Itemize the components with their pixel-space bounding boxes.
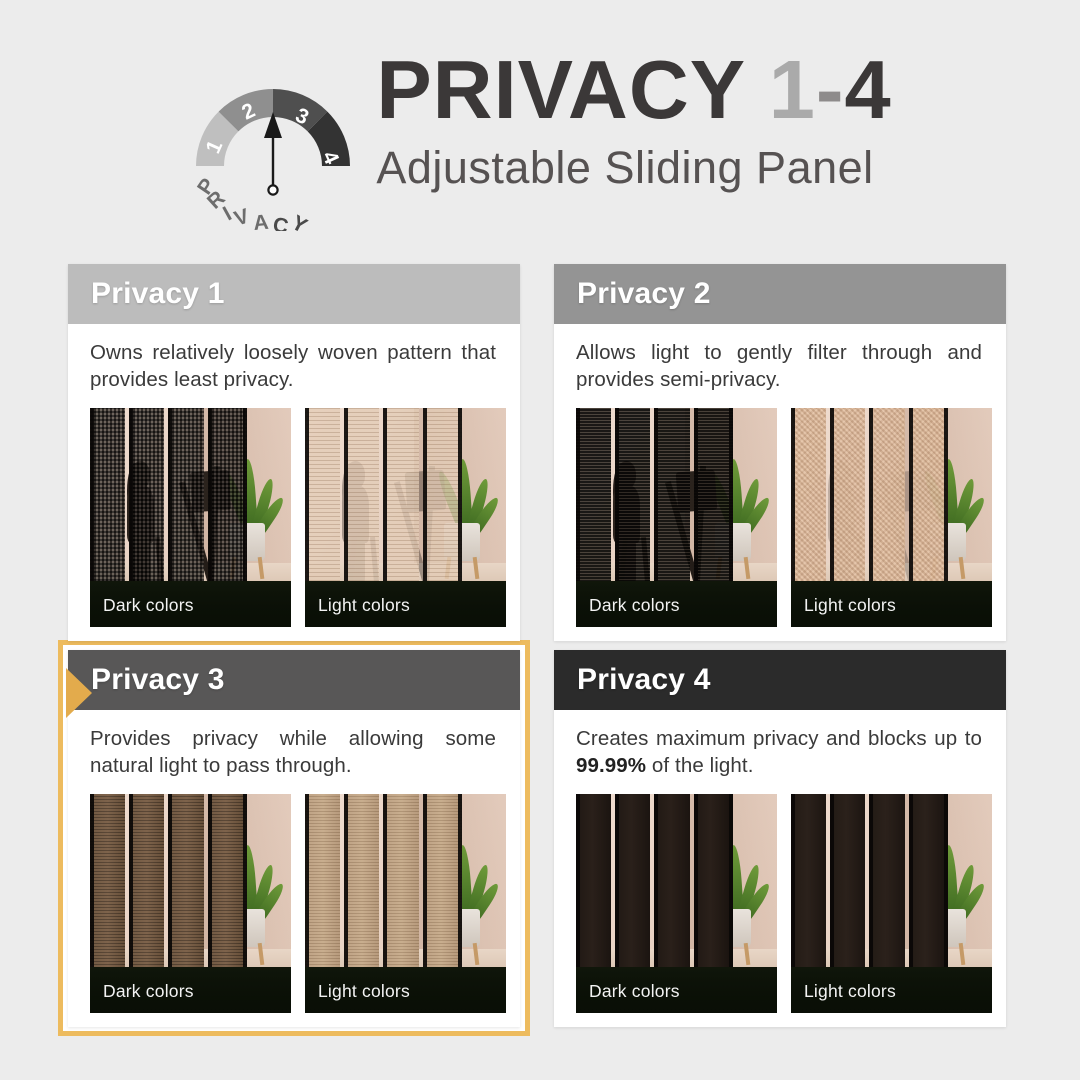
gauge-label-A: A (253, 211, 270, 231)
sliding-panels (90, 408, 247, 597)
photo-caption-light: Light colors (791, 969, 992, 1013)
privacy-3-photo-dark[interactable]: Dark colors (90, 794, 291, 1013)
photo-caption-light: Light colors (305, 969, 506, 1013)
privacy-1-body: Owns relatively loosely woven pattern th… (68, 324, 520, 641)
privacy-4-desc-post: of the light. (646, 754, 753, 777)
page-title: PRIVACY 1-4 (376, 48, 891, 131)
sliding-panels (305, 794, 462, 983)
privacy-4-body: Creates maximum privacy and blocks up to… (554, 710, 1006, 1027)
photo-caption-dark: Dark colors (90, 969, 291, 1013)
privacy-card-4[interactable]: Privacy 4 Creates maximum privacy and bl… (554, 650, 1006, 1027)
privacy-1-description: Owns relatively loosely woven pattern th… (90, 340, 502, 396)
privacy-2-body: Allows light to gently filter through an… (554, 324, 1006, 641)
page-header: 1 2 3 4 P R I V A C Y (0, 42, 1080, 232)
privacy-card-3[interactable]: Privacy 3 Provides privacy while allowin… (68, 650, 520, 1027)
privacy-card-1[interactable]: Privacy 1 Owns relatively loosely woven … (68, 264, 520, 641)
privacy-3-body: Provides privacy while allowing some nat… (68, 710, 520, 1027)
sliding-panels (576, 408, 733, 597)
photo-caption-dark: Dark colors (576, 583, 777, 627)
privacy-3-photos: Dark colors (90, 794, 502, 1013)
photo-caption-light: Light colors (791, 583, 992, 627)
privacy-3-header: Privacy 3 (68, 650, 520, 710)
page-subtitle: Adjustable Sliding Panel (376, 145, 891, 190)
privacy-card-2[interactable]: Privacy 2 Allows light to gently filter … (554, 264, 1006, 641)
privacy-2-title: Privacy 2 (577, 277, 711, 311)
photo-caption-light: Light colors (305, 583, 506, 627)
sliding-panels (90, 794, 247, 983)
privacy-4-desc-pre: Creates maximum privacy and blocks up to (576, 727, 982, 750)
privacy-1-header: Privacy 1 (68, 264, 520, 324)
gauge-label-C: C (271, 213, 290, 231)
privacy-levels-infographic: 1 2 3 4 P R I V A C Y (0, 0, 1080, 1080)
privacy-4-desc-percent: 99.99% (576, 754, 646, 777)
privacy-4-photos: Dark colors (576, 794, 988, 1013)
title-number-4: 4 (845, 43, 892, 136)
photo-caption-dark: Dark colors (576, 969, 777, 1013)
privacy-2-photos: Dark colors (576, 408, 988, 627)
privacy-card-grid: Privacy 1 Owns relatively loosely woven … (68, 264, 1012, 1036)
gauge-label-V: V (232, 205, 252, 231)
photo-caption-dark: Dark colors (90, 583, 291, 627)
privacy-1-title: Privacy 1 (91, 277, 225, 311)
privacy-3-description: Provides privacy while allowing some nat… (90, 726, 502, 782)
title-dash: - (816, 43, 845, 136)
gauge-svg: 1 2 3 4 P R I V A C Y (188, 56, 358, 231)
privacy-1-photos: Dark colors (90, 408, 502, 627)
privacy-4-photo-dark[interactable]: Dark colors (576, 794, 777, 1013)
title-block: PRIVACY 1-4 Adjustable Sliding Panel (376, 48, 891, 190)
privacy-4-description: Creates maximum privacy and blocks up to… (576, 726, 988, 782)
privacy-2-photo-dark[interactable]: Dark colors (576, 408, 777, 627)
privacy-4-header: Privacy 4 (554, 650, 1006, 710)
sliding-panels (791, 408, 948, 597)
privacy-2-photo-light[interactable]: Light colors (791, 408, 992, 627)
gauge-label-Y: Y (288, 211, 311, 231)
title-number-1: 1 (769, 43, 816, 136)
privacy-2-header: Privacy 2 (554, 264, 1006, 324)
gauge-needle-icon (264, 112, 282, 195)
privacy-1-photo-light[interactable]: Light colors (305, 408, 506, 627)
privacy-4-title: Privacy 4 (577, 663, 711, 697)
privacy-4-photo-light[interactable]: Light colors (791, 794, 992, 1013)
privacy-1-photo-dark[interactable]: Dark colors (90, 408, 291, 627)
title-word: PRIVACY (376, 43, 744, 136)
privacy-3-title: Privacy 3 (91, 663, 225, 697)
sliding-panels (576, 794, 733, 983)
sliding-panels (305, 408, 462, 597)
sliding-panels (791, 794, 948, 983)
highlight-arrow-icon (66, 668, 92, 718)
privacy-3-photo-light[interactable]: Light colors (305, 794, 506, 1013)
privacy-2-description: Allows light to gently filter through an… (576, 340, 988, 396)
privacy-gauge-icon: 1 2 3 4 P R I V A C Y (188, 56, 358, 231)
